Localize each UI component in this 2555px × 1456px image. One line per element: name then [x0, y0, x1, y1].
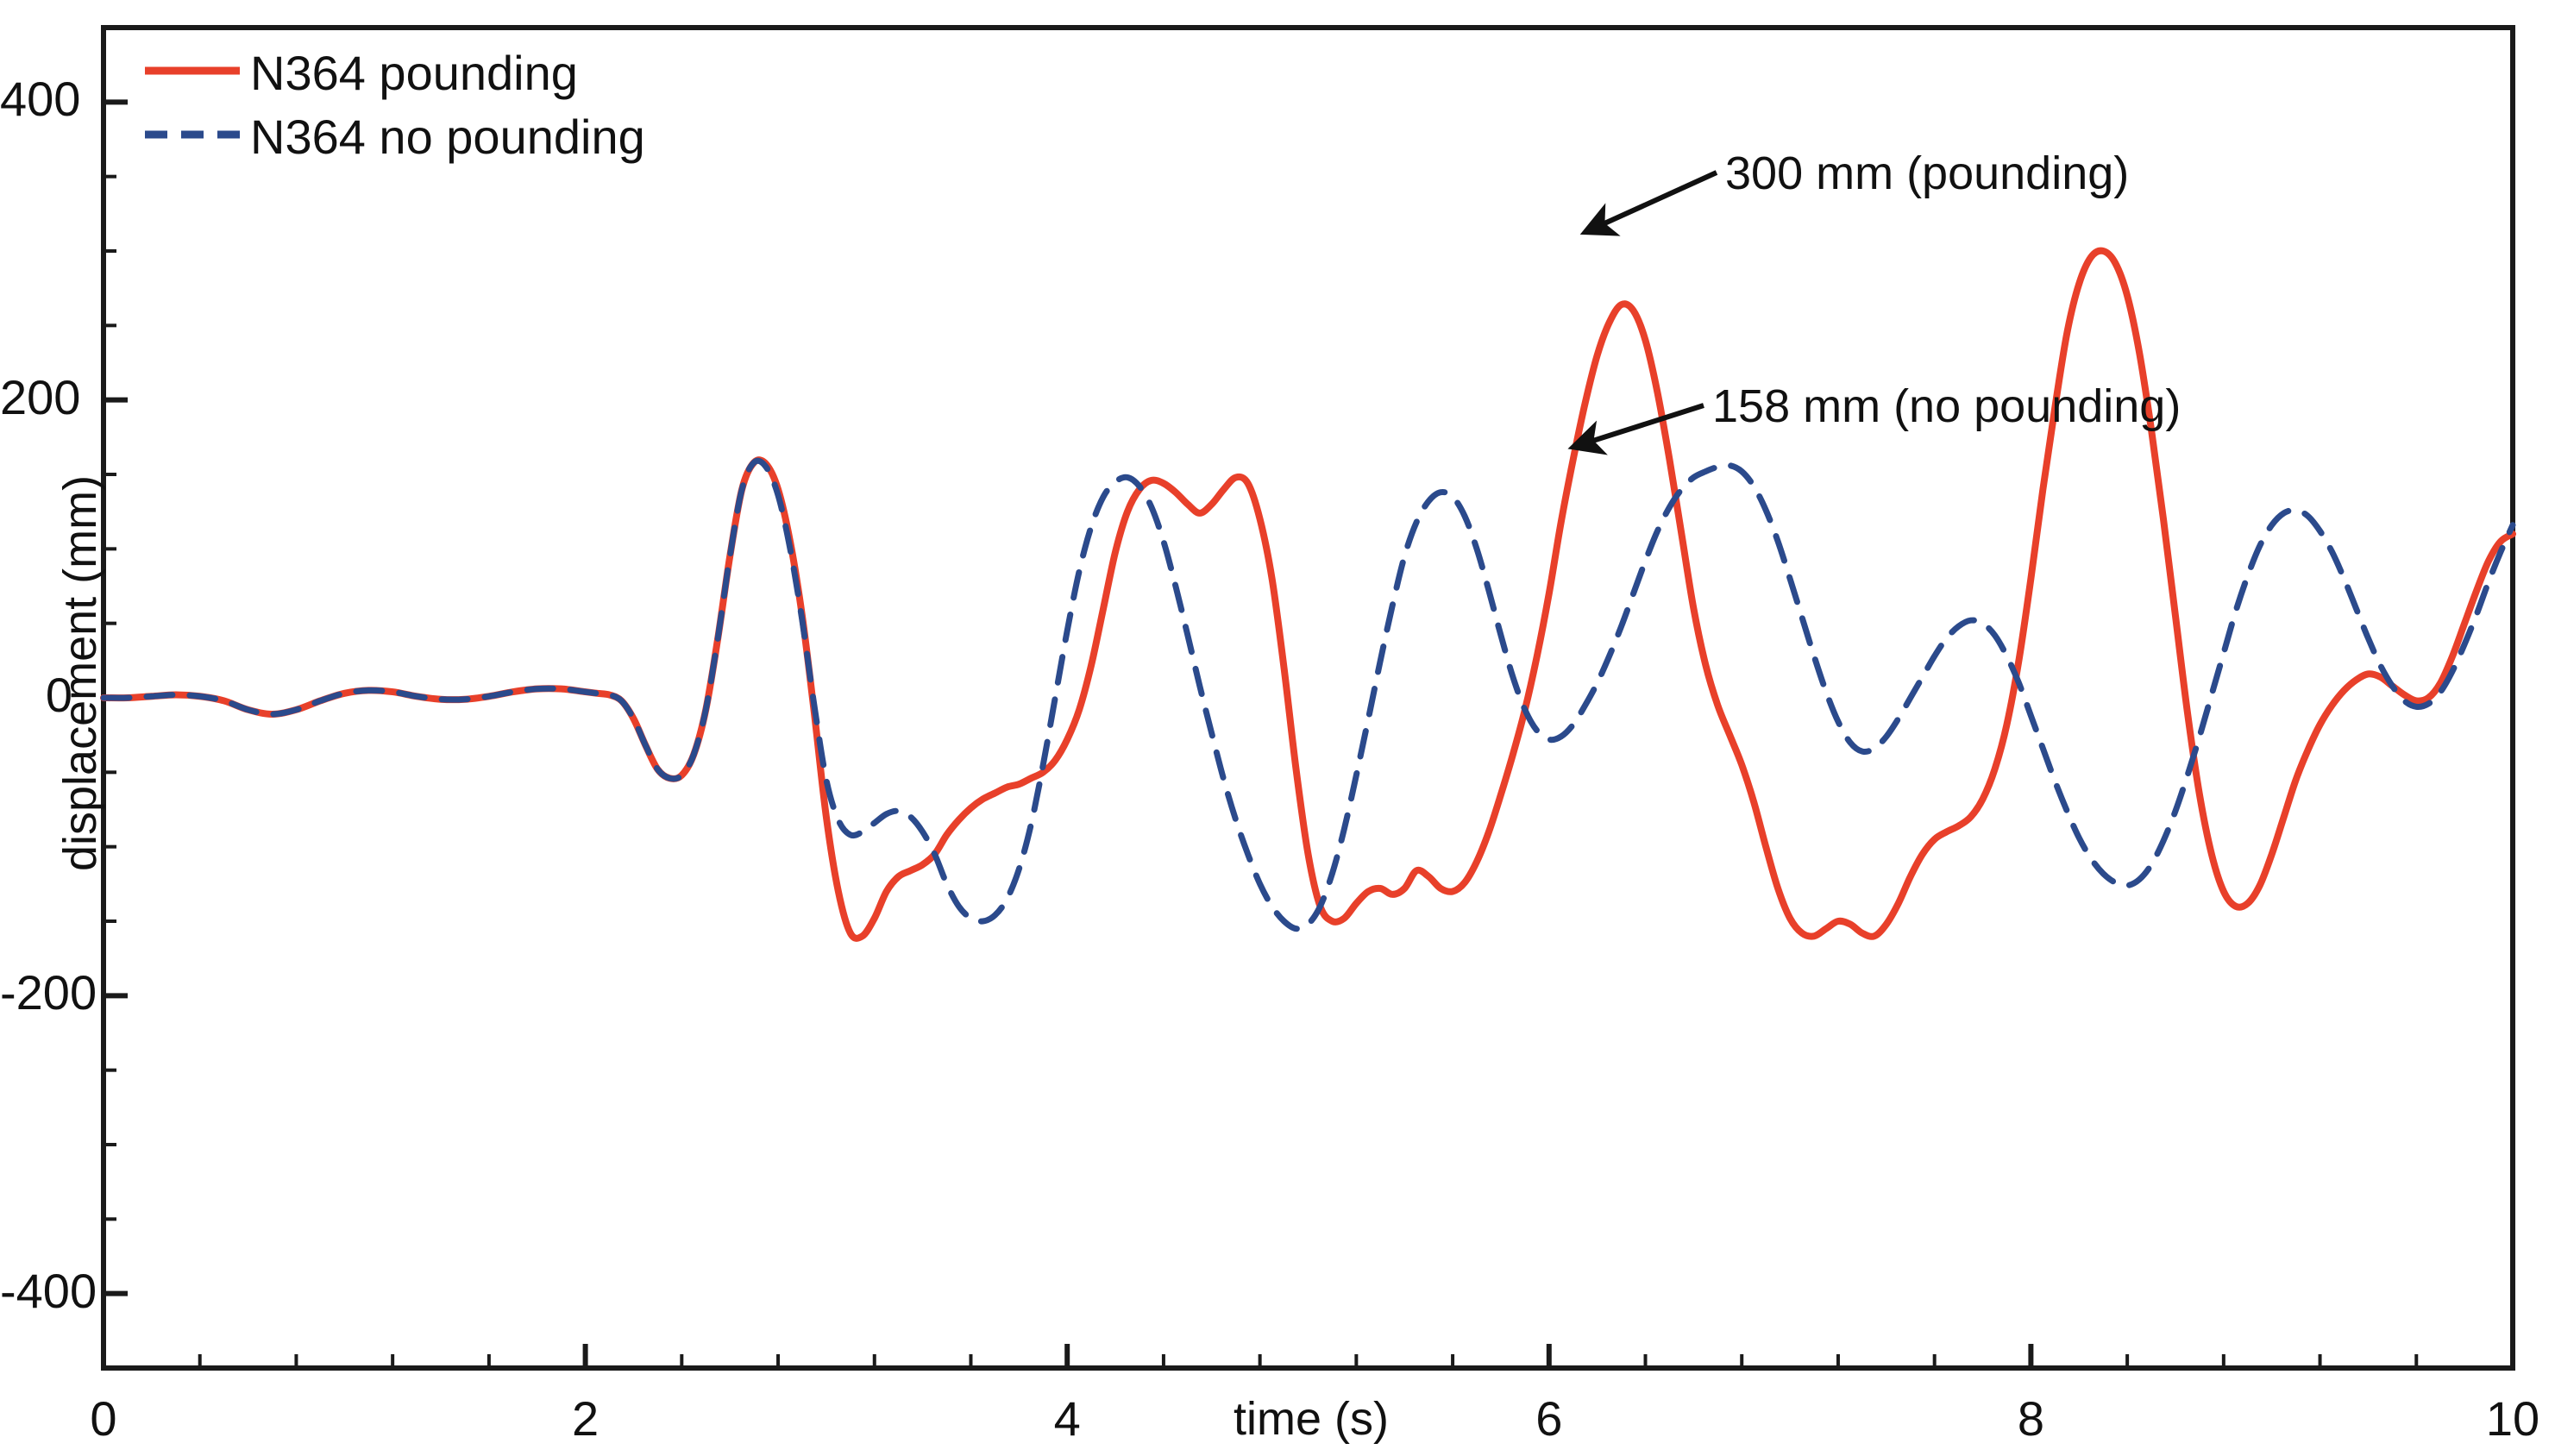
ytick-label-200: 200	[0, 369, 72, 425]
annotation-label-158mm: 158 mm (no pounding)	[1712, 380, 2181, 433]
legend-label-no-pounding[interactable]: N364 no pounding	[250, 109, 645, 165]
xtick-label-6: 6	[1497, 1390, 1601, 1447]
axis-ticks	[104, 102, 2513, 1368]
xtick-label-2: 2	[534, 1390, 637, 1447]
xtick-label-0: 0	[52, 1390, 155, 1447]
legend-label-pounding[interactable]: N364 pounding	[250, 45, 578, 101]
data-series-group	[104, 251, 2513, 938]
annotation-label-300mm: 300 mm (pounding)	[1725, 147, 2129, 200]
annotation-arrow-300mm	[1585, 173, 1717, 232]
series-line-pounding	[104, 251, 2513, 938]
annotation-arrows	[1573, 173, 1717, 447]
annotation-arrow-158mm	[1573, 405, 1704, 447]
ytick-label-n200: -200	[0, 964, 72, 1020]
chart-plot-area	[0, 0, 2555, 1456]
xtick-label-10: 10	[2461, 1390, 2555, 1447]
ytick-label-n400: -400	[0, 1263, 72, 1319]
legend-swatches	[145, 71, 240, 135]
xtick-label-8: 8	[1979, 1390, 2082, 1447]
xtick-label-4: 4	[1015, 1390, 1119, 1447]
y-axis-title: displacement (mm)	[53, 475, 107, 871]
ytick-label-400: 400	[0, 71, 72, 127]
chart-canvas: 400 200 0 -200 -400 0 2 4 6 8 10 displac…	[0, 0, 2555, 1456]
x-axis-title: time (s)	[1234, 1392, 1389, 1446]
